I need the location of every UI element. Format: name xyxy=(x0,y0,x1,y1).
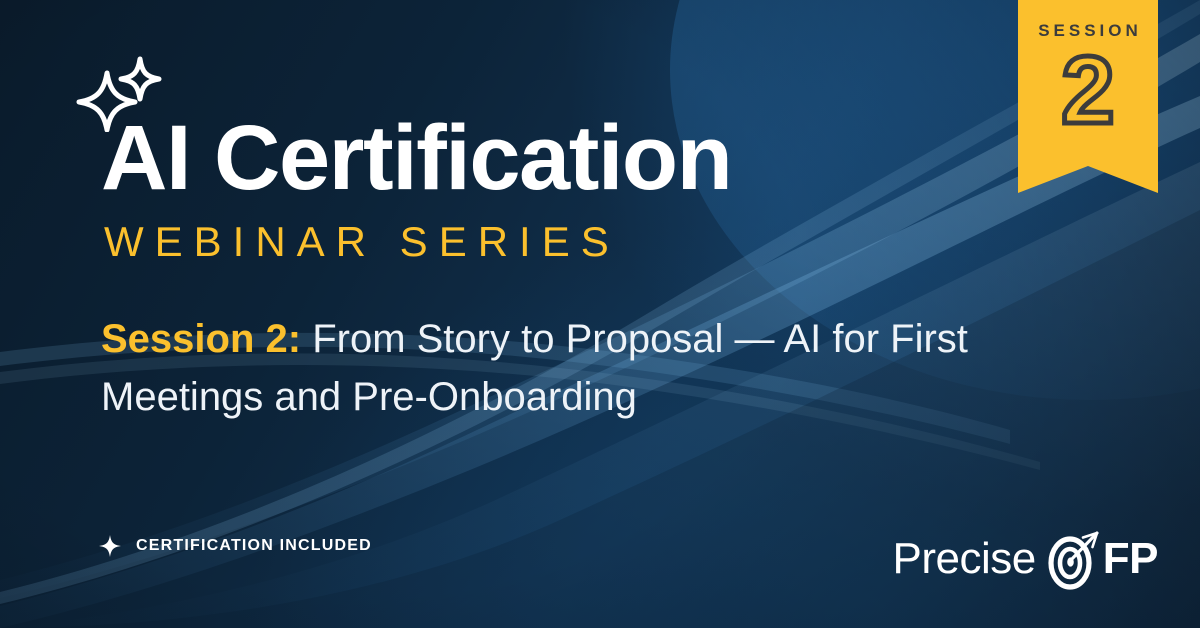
certification-badge: CERTIFICATION INCLUDED xyxy=(99,535,372,557)
page-subtitle: WEBINAR SERIES xyxy=(104,218,731,266)
certification-badge-label: CERTIFICATION INCLUDED xyxy=(136,537,372,555)
ribbon-session-number: 2 xyxy=(1061,43,1114,139)
logo-word-fp: FP xyxy=(1103,534,1158,584)
session-lead-label: Session 2: xyxy=(101,317,301,361)
logo-word-precise: Precise xyxy=(893,534,1036,584)
session-ribbon: SESSION 2 xyxy=(1018,0,1158,193)
page-title: AI Certification xyxy=(101,112,731,204)
webinar-promo-banner: SESSION 2 AI Certification WEBINAR SERIE… xyxy=(0,0,1200,628)
four-point-star-outline-small xyxy=(121,59,159,99)
session-description: Session 2: From Story to Proposal — AI f… xyxy=(101,310,1061,427)
headline-block: AI Certification WEBINAR SERIES xyxy=(101,112,731,266)
precisefp-logo: Precise FP xyxy=(893,528,1158,590)
bullseye-target-with-arrow-icon xyxy=(1042,528,1104,590)
four-point-star-filled-icon xyxy=(99,535,121,557)
